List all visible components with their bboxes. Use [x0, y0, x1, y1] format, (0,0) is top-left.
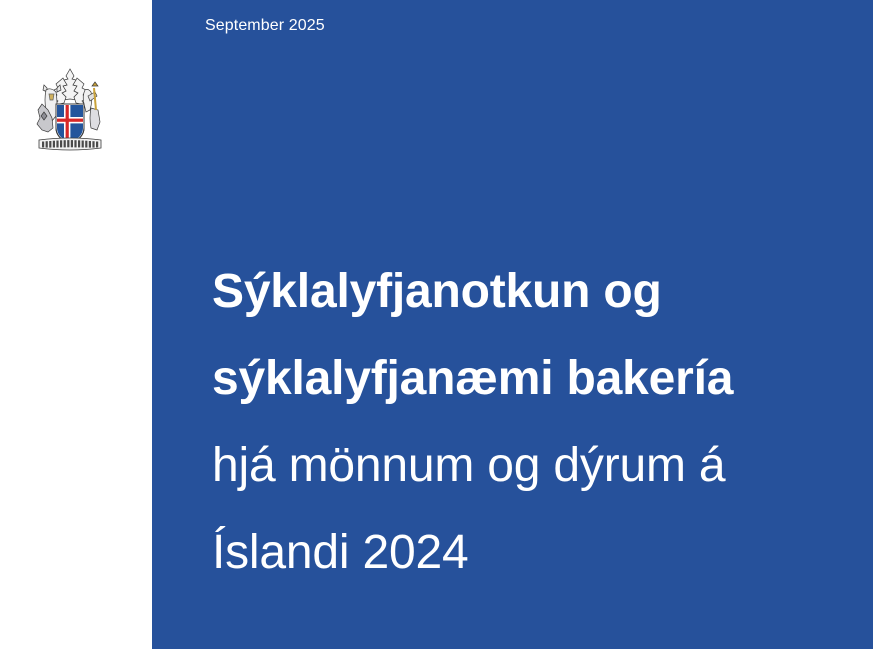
title-block: Sýklalyfjanotkun og sýklalyfjanæmi baker…	[212, 248, 872, 596]
title-line-3: hjá mönnum og dýrum á	[212, 422, 872, 509]
icelandic-coat-of-arms-icon	[33, 66, 107, 154]
title-line-1: Sýklalyfjanotkun og	[212, 248, 872, 335]
left-white-panel	[0, 0, 152, 649]
title-line-2: sýklalyfjanæmi bakería	[212, 335, 872, 422]
title-slide: September 2025 Sýklalyfjanotkun og sýkla…	[0, 0, 873, 649]
publication-date: September 2025	[205, 16, 325, 36]
title-line-4: Íslandi 2024	[212, 509, 872, 596]
blue-title-panel: September 2025 Sýklalyfjanotkun og sýkla…	[152, 0, 873, 649]
